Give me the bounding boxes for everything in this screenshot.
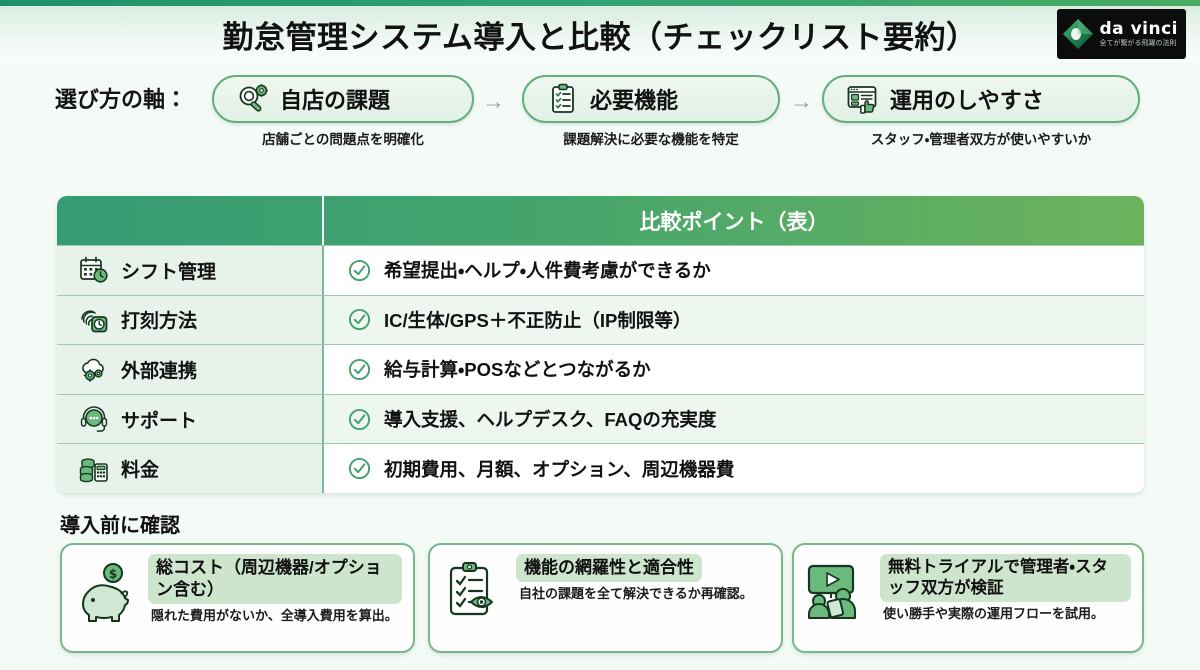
table-row: サポート 導入支援、ヘルプデスク、FAQの充実度	[57, 394, 1144, 444]
check-circle-icon	[348, 358, 371, 381]
table-row-detail: 希望提出・ヘルプ・人件費考慮ができるか	[324, 246, 1144, 295]
flow-arrow-2: →	[790, 88, 813, 115]
table-row: 料金 初期費用、月額、オプション、周辺機器費	[57, 443, 1144, 493]
table-row-label: シフト管理	[121, 257, 216, 284]
checklist-card-3-body: 無料トライアルで管理者・スタッフ双方が検証 使い勝手や実際の運用フローを試用。	[880, 554, 1131, 623]
brand-logo: da vinci 全てが繋がる飛躍の法則	[1057, 9, 1186, 59]
table-row-label: 外部連携	[121, 356, 197, 383]
table-row-detail: 給与計算・POSなどとつながるか	[324, 345, 1144, 394]
flow-step-1[interactable]: 自店の課題	[212, 75, 474, 123]
infographic-page: 勤怠管理システム導入と比較（チェックリスト要約） da vinci 全てが繋がる…	[0, 0, 1200, 670]
fingerprint-clock-icon	[79, 306, 109, 334]
table-row: 打刻方法 IC/生体/GPS＋不正防止（IP制限等）	[57, 295, 1144, 345]
table-header-right-cell: 比較ポイント（表）	[324, 196, 1144, 245]
checklist-card-3[interactable]: 無料トライアルで管理者・スタッフ双方が検証 使い勝手や実際の運用フローを試用。	[792, 543, 1144, 653]
comparison-table: 比較ポイント（表） シフト管理	[57, 196, 1144, 493]
table-row-label: 打刻方法	[121, 306, 197, 333]
checklist-card-2[interactable]: 機能の網羅性と適合性 自社の課題を全て解決できるか再確認。	[428, 543, 783, 653]
svg-text:$: $	[109, 567, 117, 581]
browser-thumbsup-icon	[846, 83, 880, 115]
checklist-card-1-body: 総コスト（周辺機器/オプション含む） 隠れた費用がないか、全導入費用を算出。	[148, 554, 402, 624]
pre-implementation-heading: 導入前に確認	[60, 509, 180, 538]
checklist-card-1-title: 総コスト（周辺機器/オプション含む）	[148, 554, 402, 604]
page-title: 勤怠管理システム導入と比較（チェックリスト要約）	[222, 12, 977, 57]
flow-step-2-label: 必要機能	[590, 83, 678, 115]
table-row-text: 初期費用、月額、オプション、周辺機器費	[384, 456, 734, 482]
table-row-category: 料金	[57, 444, 322, 493]
table-row-detail: IC/生体/GPS＋不正防止（IP制限等）	[324, 296, 1144, 345]
check-circle-icon	[348, 408, 371, 431]
check-circle-icon	[348, 259, 371, 282]
presentation-people-icon	[805, 560, 871, 624]
table-row-text: 給与計算・POSなどとつながるか	[384, 356, 651, 382]
table-header-row: 比較ポイント（表）	[57, 196, 1144, 245]
piggy-bank-icon: $	[73, 560, 139, 624]
table-row-category: サポート	[57, 395, 322, 444]
table-row-detail: 初期費用、月額、オプション、周辺機器費	[324, 444, 1144, 493]
cloud-gears-icon	[79, 355, 109, 383]
logo-main-text: da vinci	[1100, 21, 1178, 38]
checklist-card-2-body: 機能の網羅性と適合性 自社の課題を全て解決できるか再確認。	[516, 554, 770, 603]
flow-step-1-caption: 店舗ごとの問題点を明確化	[212, 128, 474, 148]
flow-step-3-label: 運用のしやすさ	[890, 83, 1044, 115]
flow-step-3[interactable]: 運用のしやすさ	[822, 75, 1140, 123]
diamond-logo-icon	[1061, 17, 1095, 51]
table-header-title: 比較ポイント（表）	[640, 206, 829, 236]
table-row-category: 打刻方法	[57, 296, 322, 345]
clipboard-check-icon	[546, 83, 580, 115]
table-row-text: 希望提出・ヘルプ・人件費考慮ができるか	[384, 257, 711, 283]
check-circle-icon	[348, 457, 371, 480]
table-row-category: 外部連携	[57, 345, 322, 394]
checklist-card-1-desc: 隠れた費用がないか、全導入費用を算出。	[148, 608, 402, 625]
table-header-left-cell	[57, 196, 322, 245]
checklist-card-1[interactable]: $ 総コスト（周辺機器/オプション含む） 隠れた費用がないか、全導入費用を算出。	[60, 543, 415, 653]
table-row: シフト管理 希望提出・ヘルプ・人件費考慮ができるか	[57, 245, 1144, 295]
flow-label: 選び方の軸：	[55, 82, 187, 114]
table-row: 外部連携 給与計算・POSなどとつながるか	[57, 344, 1144, 394]
headset-chat-icon	[79, 405, 109, 433]
clipboard-eye-icon	[441, 560, 507, 624]
checklist-card-2-desc: 自社の課題を全て解決できるか再確認。	[516, 586, 770, 603]
coins-calculator-icon	[79, 455, 109, 483]
table-row-text: 導入支援、ヘルプデスク、FAQの充実度	[384, 406, 716, 432]
table-row-text: IC/生体/GPS＋不正防止（IP制限等）	[384, 307, 691, 333]
table-row-category: シフト管理	[57, 246, 322, 295]
page-header: 勤怠管理システム導入と比較（チェックリスト要約）	[0, 6, 1200, 62]
flow-arrow-1: →	[482, 88, 505, 115]
table-row-label: サポート	[121, 406, 197, 433]
flow-step-2[interactable]: 必要機能	[522, 75, 780, 123]
check-circle-icon	[348, 308, 371, 331]
logo-sub-text: 全てが繋がる飛躍の法則	[1100, 40, 1178, 47]
flow-step-3-caption: スタッフ・管理者双方が使いやすいか	[822, 128, 1140, 148]
flow-step-1-label: 自店の課題	[280, 83, 390, 115]
checklist-card-3-desc: 使い勝手や実際の運用フローを試用。	[880, 606, 1131, 623]
checklist-card-2-title: 機能の網羅性と適合性	[516, 554, 702, 582]
table-row-detail: 導入支援、ヘルプデスク、FAQの充実度	[324, 395, 1144, 444]
checklist-card-3-title: 無料トライアルで管理者・スタッフ双方が検証	[880, 554, 1131, 602]
table-row-label: 料金	[121, 455, 159, 482]
logo-wordmark: da vinci 全てが繋がる飛躍の法則	[1100, 21, 1178, 47]
selection-axis-flow: 選び方の軸： 自店の課題 →	[0, 68, 1200, 180]
flow-step-2-caption: 課題解決に必要な機能を特定	[522, 128, 780, 148]
magnifier-gear-icon	[236, 83, 270, 115]
calendar-clock-icon	[79, 256, 109, 284]
